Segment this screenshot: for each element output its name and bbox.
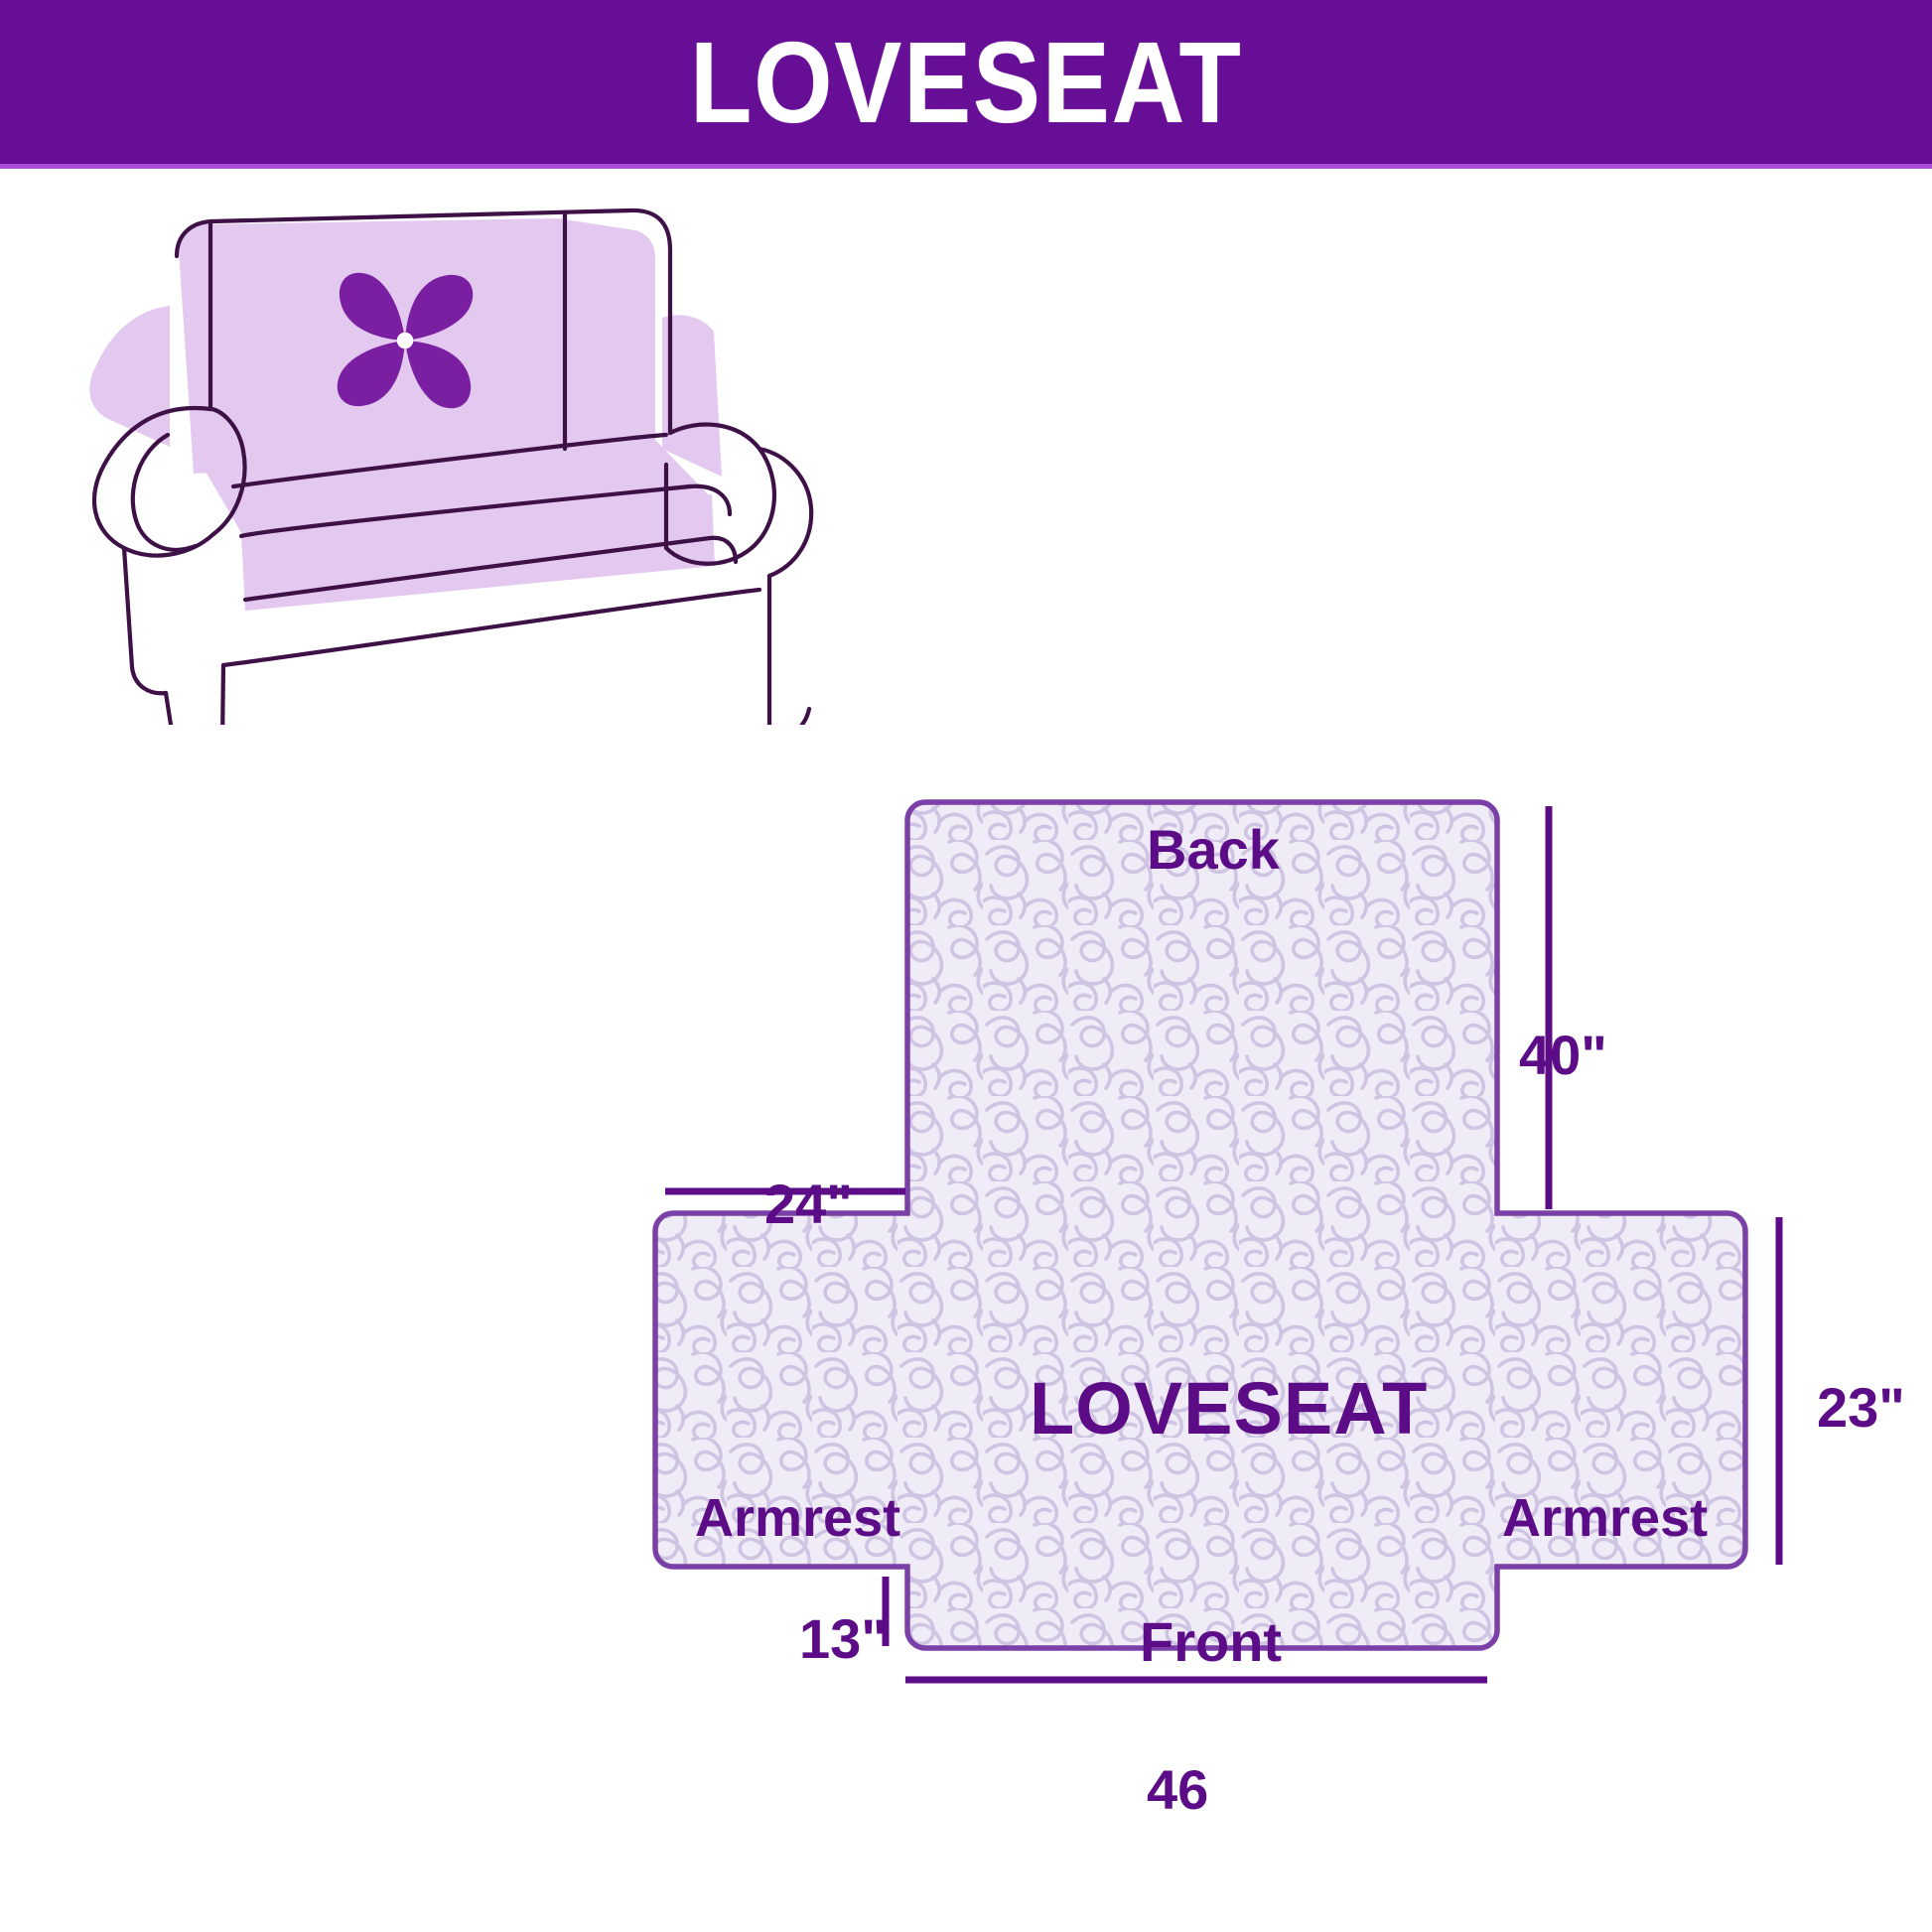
loveseat-illustration [74,199,948,725]
dimension-label-front-width: 46 [1147,1762,1208,1818]
panel-label-front: Front [1140,1614,1282,1670]
banner-underline [0,164,1932,169]
page-title: LOVESEAT [690,25,1243,140]
panel-label-back: Back [1147,822,1280,878]
dimension-label-front-height: 13" [799,1611,888,1667]
header-banner: LOVESEAT [0,0,1932,164]
slipcover-flat-pattern [556,755,1932,1932]
panel-label-armrest-left: Armrest [695,1491,900,1545]
dimension-label-seat-depth: 23" [1817,1380,1905,1436]
loveseat-size-diagram: LOVESEAT [0,0,1932,1932]
dimension-label-back-height: 40" [1519,1028,1607,1083]
panel-label-armrest-right: Armrest [1502,1491,1708,1545]
pattern-center-label: LOVESEAT [1030,1372,1428,1446]
dimension-label-back-width: 24" [764,1176,853,1232]
